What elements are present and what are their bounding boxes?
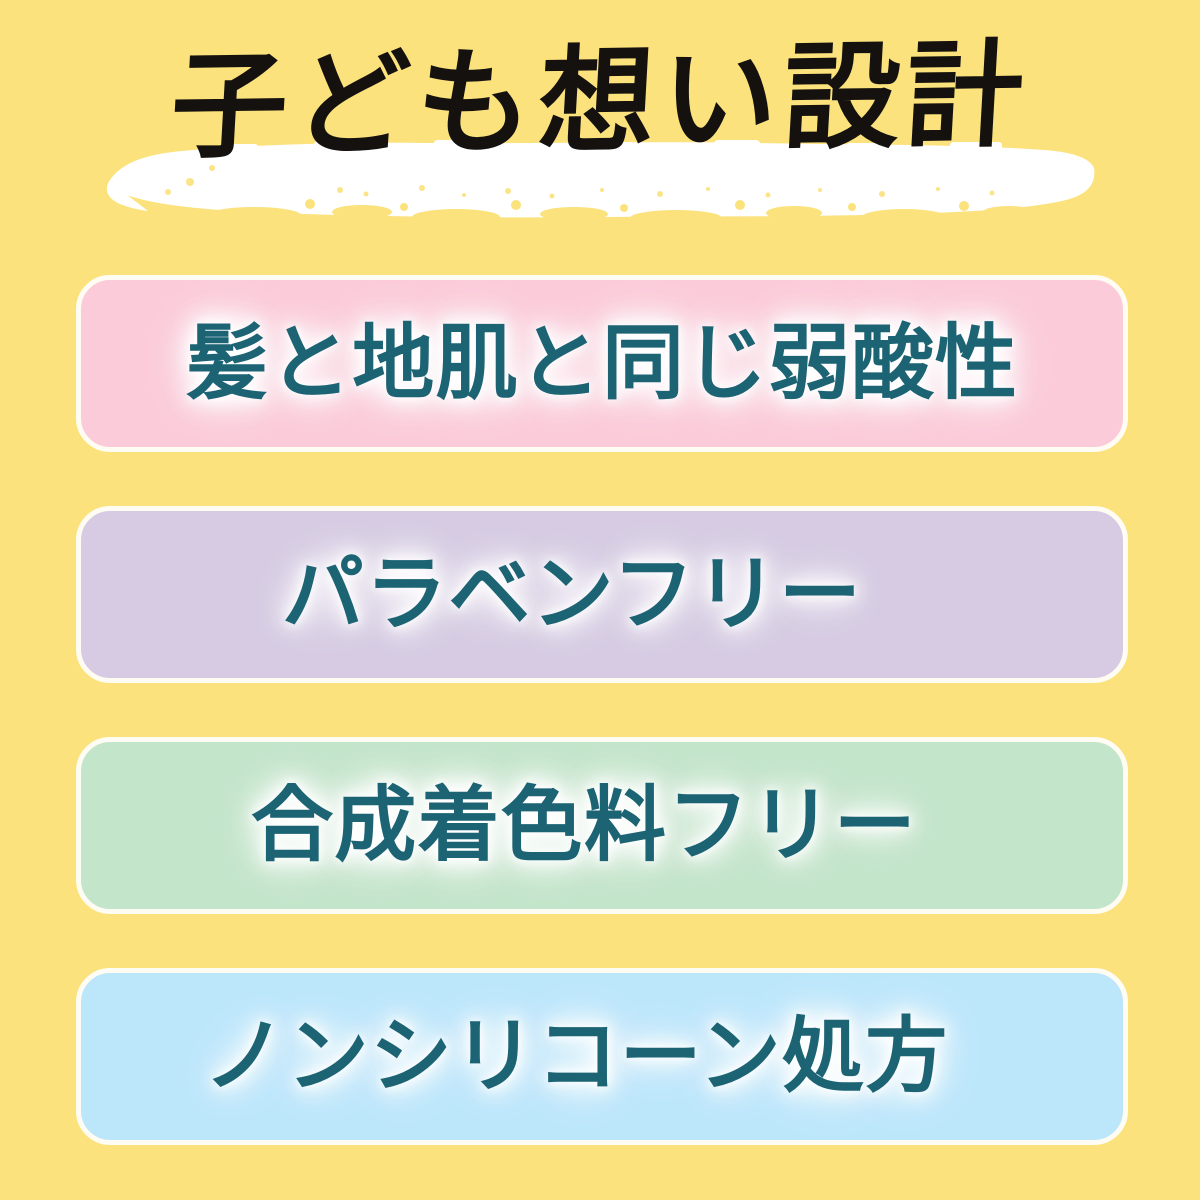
feature-card-weak-acidic[interactable]: 髪と地肌と同じ弱酸性 [76, 275, 1128, 452]
promo-poster: 子ども想い設計 髪と地肌と同じ弱酸性 パラベンフリー 合成着色料フリー ノンシリ… [0, 0, 1200, 1200]
page-title: 子ども想い設計 [0, 20, 1200, 185]
feature-card-paraben-free[interactable]: パラベンフリー [76, 506, 1128, 683]
feature-card-label: パラベンフリー [282, 554, 862, 636]
feature-card-no-synthetic-colorant[interactable]: 合成着色料フリー [76, 737, 1128, 914]
feature-card-silicone-free[interactable]: ノンシリコーン処方 [76, 968, 1128, 1145]
feature-card-label: ノンシリコーン処方 [204, 1016, 949, 1098]
feature-card-list: 髪と地肌と同じ弱酸性 パラベンフリー 合成着色料フリー ノンシリコーン処方 [76, 275, 1128, 1145]
feature-card-label: 髪と地肌と同じ弱酸性 [186, 323, 1018, 405]
title-block: 子ども想い設計 [0, 28, 1200, 228]
feature-card-label: 合成着色料フリー [251, 785, 917, 867]
